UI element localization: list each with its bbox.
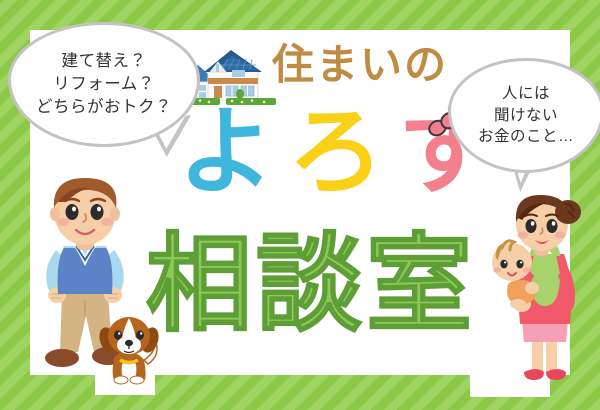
kana-char-2: ろ [288,96,398,208]
page-subtitle: 住まいの [272,44,448,86]
dog-illustration [98,312,160,384]
promo-banner: 住まいの よろす 相談室 建て替え？ リフォーム？ どちらがおトク？ 人には 聞… [0,0,600,410]
speech-bubble-left-text: 建て替え？ リフォーム？ どちらがおトク？ [36,50,172,118]
speech-bubble-right-text: 人には 聞けない お金のこと… [478,83,574,147]
page-title: 相談室 [146,232,476,338]
woman-with-baby-illustration [488,196,592,388]
